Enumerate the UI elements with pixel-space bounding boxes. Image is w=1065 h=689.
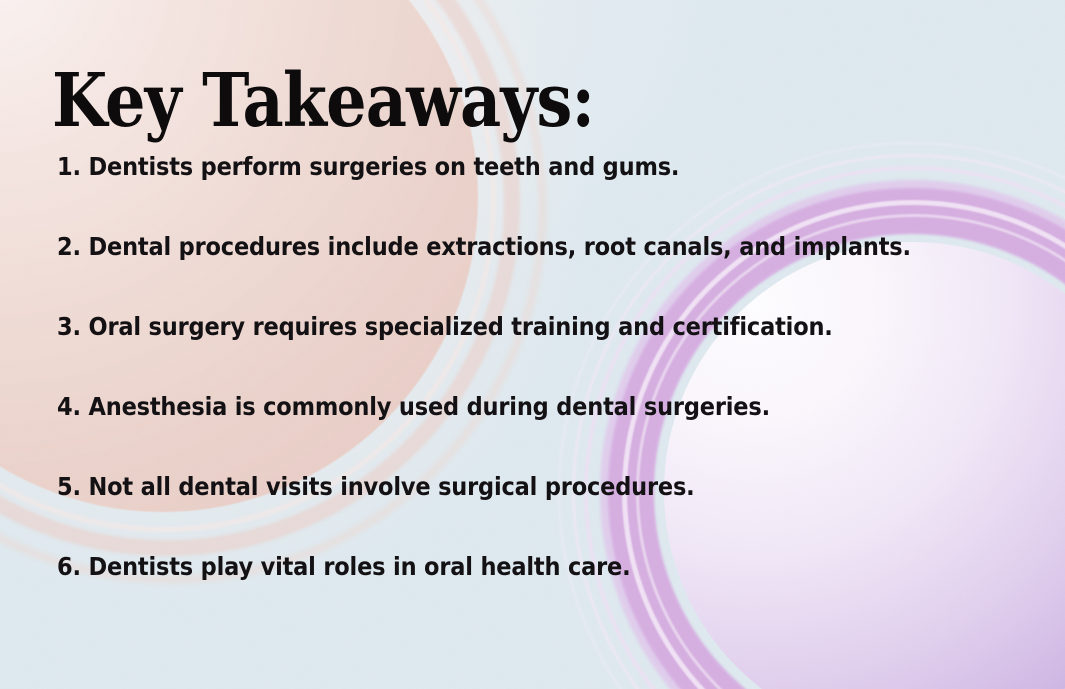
takeaways-list: 1. Dentists perform surgeries on teeth a…: [57, 152, 997, 632]
poster-content: Key Takeaways: 1. Dentists perform surge…: [0, 0, 1065, 689]
list-item: 6. Dentists play vital roles in oral hea…: [57, 552, 903, 632]
list-item: 3. Oral surgery requires specialized tra…: [57, 312, 903, 392]
list-item: 1. Dentists perform surgeries on teeth a…: [57, 152, 903, 232]
poster-canvas: Key Takeaways: 1. Dentists perform surge…: [0, 0, 1065, 689]
list-item: 5. Not all dental visits involve surgica…: [57, 472, 903, 552]
list-item: 4. Anesthesia is commonly used during de…: [57, 392, 903, 472]
list-item: 2. Dental procedures include extractions…: [57, 232, 903, 312]
page-title: Key Takeaways:: [52, 64, 594, 138]
